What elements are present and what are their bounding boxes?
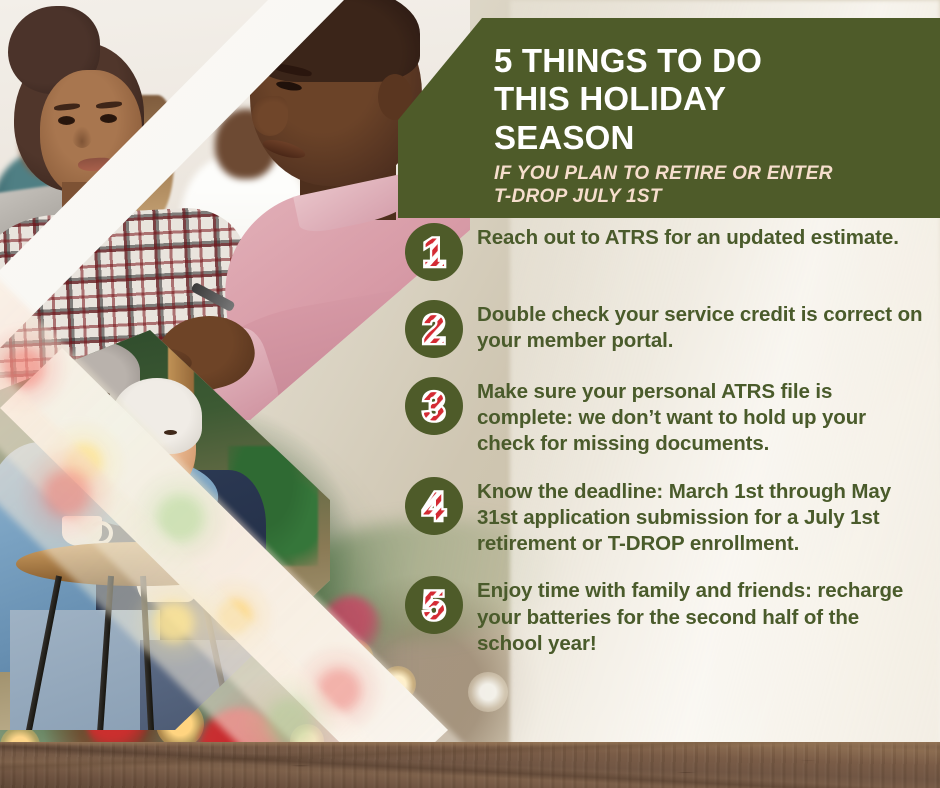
badge-number-1: 1 [423,231,445,274]
list-item: 5 Enjoy time with family and friends: re… [398,575,940,657]
woman-eye [100,114,117,123]
header-banner: 5 THINGS TO DO THIS HOLIDAY SEASON IF YO… [398,18,940,218]
badge-number-2: 2 [423,308,445,351]
badge-number-4: 4 [423,485,446,528]
wood-grain-texture [0,742,940,788]
list-item-text: Make sure your personal ATRS file is com… [477,376,929,458]
list-item-text: Double check your service credit is corr… [477,299,929,354]
list-item: 2 Double check your service credit is co… [398,299,940,358]
candy-cane-number-badge-2: 2 [405,300,463,358]
checklist: 1 Reach out to ATRS for an updated estim… [398,222,940,675]
poster-canvas: 5 THINGS TO DO THIS HOLIDAY SEASON IF YO… [0,0,940,788]
senior-woman-mouth [136,454,172,476]
candy-cane-number-badge-4: 4 [405,477,463,535]
header-text-group: 5 THINGS TO DO THIS HOLIDAY SEASON IF YO… [494,42,924,208]
wooden-plank-footer [0,742,940,788]
senior-woman-eye [132,430,145,435]
list-item: 1 Reach out to ATRS for an updated estim… [398,222,940,281]
list-item-text: Reach out to ATRS for an updated estimat… [477,222,899,251]
page-title: 5 THINGS TO DO THIS HOLIDAY SEASON [494,42,924,157]
title-line-3: SEASON [494,119,924,157]
coffee-cup [62,516,102,546]
title-line-2: THIS HOLIDAY [494,80,924,118]
list-item-text: Enjoy time with family and friends: rech… [477,575,929,657]
man-nose [252,96,288,136]
list-item: 4 Know the deadline: March 1st through M… [398,476,940,558]
subtitle-line-2: T-DROP JULY 1ST [494,185,924,208]
list-item-text: Know the deadline: March 1st through May… [477,476,929,558]
badge-number-5: 5 [423,584,445,627]
candy-cane-number-badge-1: 1 [405,223,463,281]
senior-woman-hair [112,378,202,454]
page-subtitle: IF YOU PLAN TO RETIRE OR ENTER T-DROP JU… [494,162,924,208]
woman-nose [72,126,92,148]
candy-cane-number-badge-3: 3 [405,377,463,435]
title-line-1: 5 THINGS TO DO [494,42,924,80]
senior-woman-eye [164,430,177,435]
senior-man-eye [62,392,76,397]
candy-cane-number-badge-5: 5 [405,576,463,634]
senior-man-eye [96,392,110,397]
subtitle-line-1: IF YOU PLAN TO RETIRE OR ENTER [494,162,924,185]
badge-number-3: 3 [423,385,445,428]
woman-eye [58,116,75,125]
list-item: 3 Make sure your personal ATRS file is c… [398,376,940,458]
